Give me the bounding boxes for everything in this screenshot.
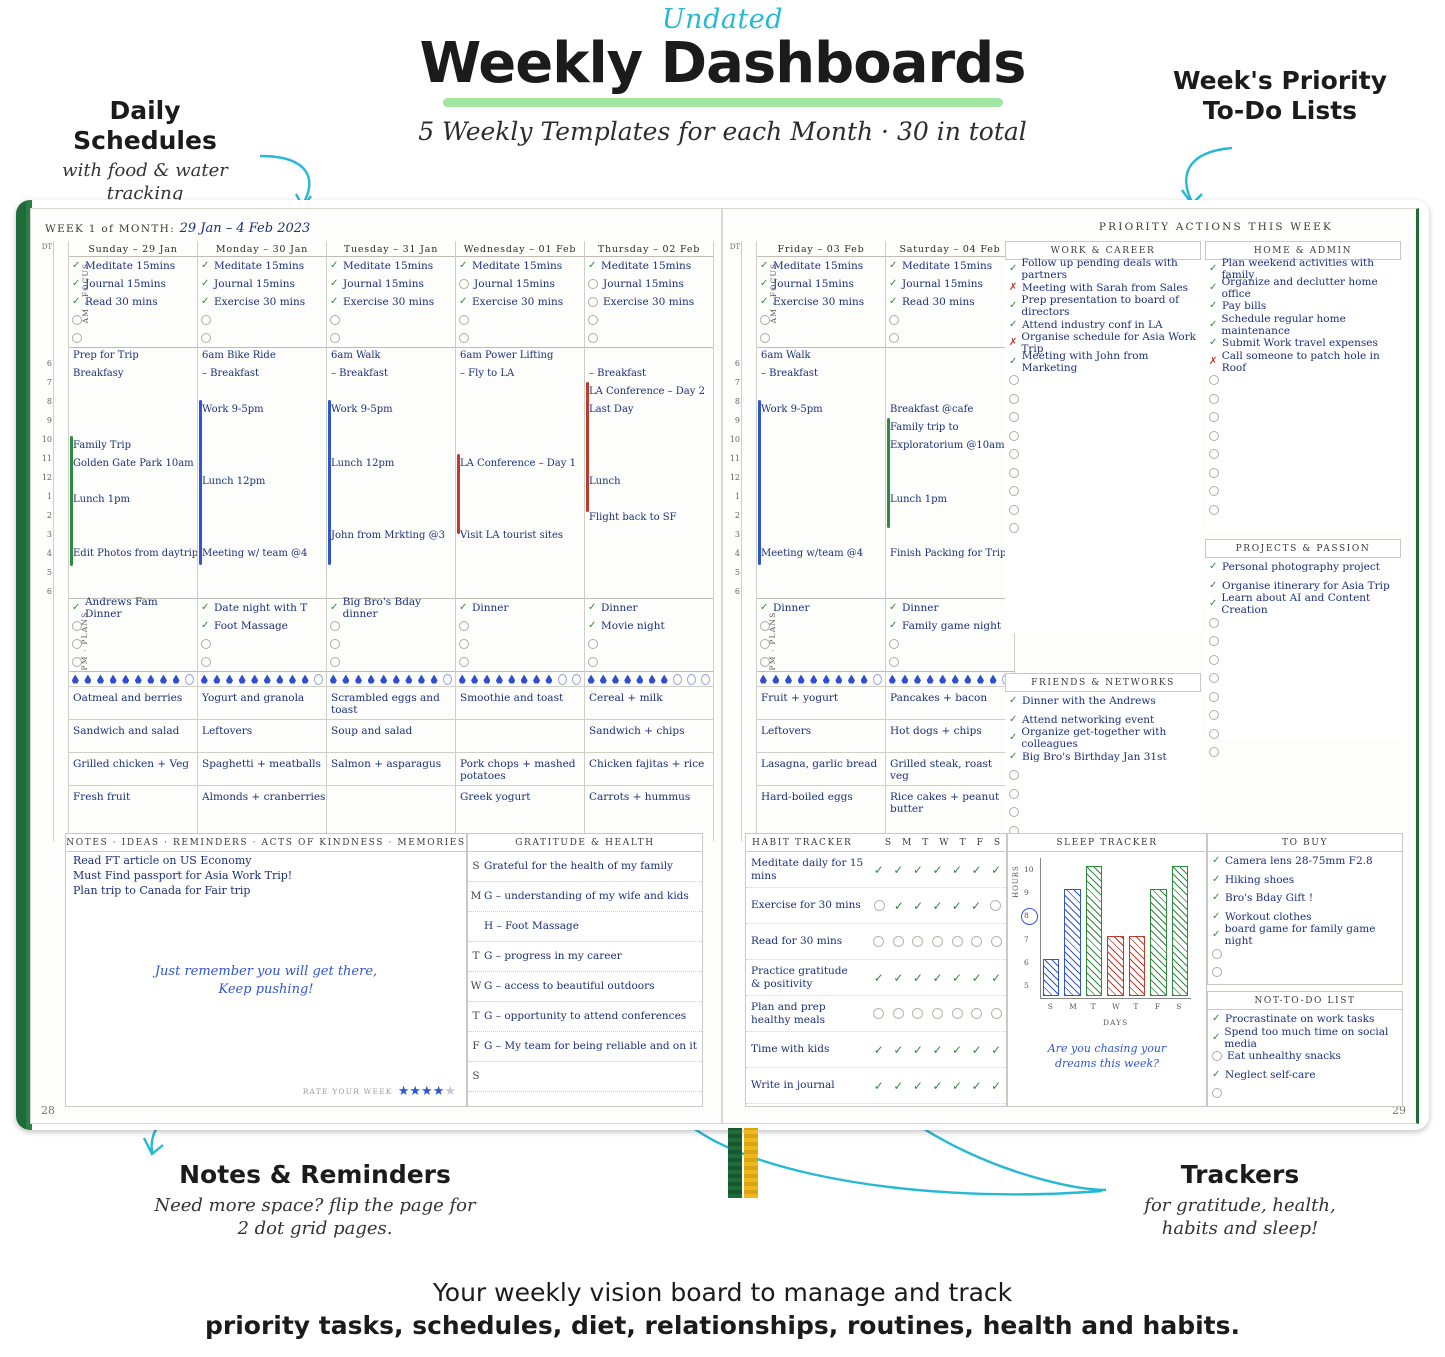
check-icon[interactable]: ✓: [874, 971, 884, 985]
empty-circle-icon[interactable]: [459, 333, 469, 343]
pm-task[interactable]: [757, 635, 885, 653]
meal-entry[interactable]: Pork chops + mashed potatoes: [456, 752, 584, 785]
water-drop-icon[interactable]: [624, 675, 631, 684]
water-drop-icon[interactable]: [160, 675, 167, 684]
am-task[interactable]: ✓Meditate 15mins: [585, 257, 713, 275]
check-icon[interactable]: ✓: [1209, 264, 1218, 274]
empty-circle-icon[interactable]: [1212, 949, 1222, 959]
water-drop-icon[interactable]: [185, 674, 194, 685]
pm-task[interactable]: [327, 635, 455, 653]
am-task[interactable]: [69, 311, 197, 329]
water-drop-icon[interactable]: [251, 675, 258, 684]
gratitude-row[interactable]: SGrateful for the health of my family: [468, 852, 702, 882]
pm-task[interactable]: ✓Andrews Fam Dinner: [69, 599, 197, 617]
water-drop-icon[interactable]: [380, 675, 387, 684]
priority-item-empty[interactable]: [1005, 482, 1201, 501]
gratitude-row[interactable]: TG – opportunity to attend conferences: [468, 1002, 702, 1032]
am-task[interactable]: ✓Journal 15mins: [69, 275, 197, 293]
check-icon[interactable]: ✓: [330, 603, 339, 613]
empty-circle-icon[interactable]: [893, 1008, 904, 1019]
priority-item-empty[interactable]: [1005, 371, 1201, 390]
habit-marks[interactable]: ✓✓✓✓✓✓✓: [869, 1079, 1006, 1093]
water-drop-icon[interactable]: [636, 675, 643, 684]
am-task[interactable]: ✓Journal 15mins: [198, 275, 326, 293]
meal-entry[interactable]: Sandwich and salad: [69, 719, 197, 752]
water-tracker[interactable]: [886, 671, 1014, 686]
check-icon[interactable]: ✓: [330, 297, 339, 307]
priority-item[interactable]: ✓Bro's Bday Gift !: [1208, 889, 1402, 908]
gratitude-row[interactable]: H – Foot Massage: [468, 912, 702, 942]
priority-item-empty[interactable]: [1205, 427, 1401, 446]
empty-circle-icon[interactable]: [459, 315, 469, 325]
priority-item-empty[interactable]: [1205, 464, 1401, 483]
empty-circle-icon[interactable]: [1212, 967, 1222, 977]
empty-circle-icon[interactable]: [72, 621, 82, 631]
check-icon[interactable]: ✓: [459, 603, 468, 613]
water-drop-icon[interactable]: [521, 675, 528, 684]
water-drop-icon[interactable]: [393, 675, 400, 684]
meal-entry[interactable]: Almonds + cranberries: [198, 785, 326, 818]
water-drop-icon[interactable]: [889, 675, 896, 684]
cross-icon[interactable]: ✗: [1009, 283, 1018, 293]
am-task[interactable]: ✓Journal 15mins: [327, 275, 455, 293]
water-drop-icon[interactable]: [701, 674, 710, 685]
priority-item-empty[interactable]: [1205, 501, 1401, 520]
pm-task[interactable]: [585, 635, 713, 653]
empty-circle-icon[interactable]: [588, 333, 598, 343]
pm-task[interactable]: [327, 653, 455, 671]
empty-circle-icon[interactable]: [1009, 770, 1019, 780]
pm-task[interactable]: [456, 617, 584, 635]
am-task[interactable]: [456, 311, 584, 329]
meal-entry[interactable]: Smoothie and toast: [456, 686, 584, 719]
empty-circle-icon[interactable]: [1209, 692, 1219, 702]
meal-entry[interactable]: Hot dogs + chips: [886, 719, 1014, 752]
rate-your-week[interactable]: RATE YOUR WEEK ★★★★★: [303, 1082, 456, 1100]
empty-circle-icon[interactable]: [330, 333, 340, 343]
check-icon[interactable]: ✓: [459, 261, 468, 271]
empty-circle-icon[interactable]: [760, 639, 770, 649]
empty-circle-icon[interactable]: [991, 936, 1002, 947]
am-task[interactable]: ✓Meditate 15mins: [69, 257, 197, 275]
cross-icon[interactable]: ✗: [1209, 357, 1218, 367]
habit-row[interactable]: Read for 30 mins: [746, 924, 1006, 960]
priority-item[interactable]: ✓Spend too much time on social media: [1208, 1029, 1402, 1048]
check-icon[interactable]: ✓: [330, 279, 339, 289]
check-icon[interactable]: ✓: [1009, 733, 1017, 743]
check-icon[interactable]: ✓: [1212, 893, 1221, 903]
gratitude-row[interactable]: TG – progress in my career: [468, 942, 702, 972]
empty-circle-icon[interactable]: [893, 936, 904, 947]
empty-circle-icon[interactable]: [1009, 468, 1019, 478]
gratitude-row[interactable]: FG – My team for being reliable and on i…: [468, 1032, 702, 1062]
gratitude-row[interactable]: WG – access to beautiful outdoors: [468, 972, 702, 1002]
priority-item-empty[interactable]: [1205, 669, 1401, 688]
priority-item[interactable]: ✓Camera lens 28-75mm F2.8: [1208, 852, 1402, 871]
priority-item-empty[interactable]: [1005, 766, 1201, 785]
check-icon[interactable]: ✓: [893, 863, 903, 877]
empty-circle-icon[interactable]: [588, 315, 598, 325]
water-drop-icon[interactable]: [612, 675, 619, 684]
am-task[interactable]: ✓Meditate 15mins: [456, 257, 584, 275]
water-tracker[interactable]: [327, 671, 455, 686]
water-drop-icon[interactable]: [330, 675, 337, 684]
water-drop-icon[interactable]: [110, 675, 117, 684]
pm-task[interactable]: [198, 653, 326, 671]
empty-circle-icon[interactable]: [1009, 394, 1019, 404]
water-drop-icon[interactable]: [239, 675, 246, 684]
check-icon[interactable]: ✓: [932, 863, 942, 877]
check-icon[interactable]: ✓: [913, 1079, 923, 1093]
water-drop-icon[interactable]: [471, 675, 478, 684]
empty-circle-icon[interactable]: [1009, 789, 1019, 799]
check-icon[interactable]: ✓: [760, 603, 769, 613]
check-icon[interactable]: ✓: [932, 1043, 942, 1057]
am-task[interactable]: [198, 329, 326, 347]
habit-row[interactable]: Exercise for 30 mins✓✓✓✓✓: [746, 888, 1006, 924]
water-drop-icon[interactable]: [405, 675, 412, 684]
empty-circle-icon[interactable]: [72, 657, 82, 667]
check-icon[interactable]: ✓: [894, 899, 904, 913]
priority-item[interactable]: Eat unhealthy snacks: [1208, 1047, 1402, 1066]
empty-circle-icon[interactable]: [1009, 449, 1019, 459]
habit-marks[interactable]: ✓✓✓✓✓: [869, 899, 1006, 913]
am-task[interactable]: ✓Meditate 15mins: [886, 257, 1014, 275]
water-drop-icon[interactable]: [508, 675, 515, 684]
meal-entry[interactable]: Greek yogurt: [456, 785, 584, 818]
pm-task[interactable]: [757, 653, 885, 671]
pm-task[interactable]: ✓Date night with T: [198, 599, 326, 617]
empty-circle-icon[interactable]: [330, 315, 340, 325]
water-drop-icon[interactable]: [276, 675, 283, 684]
check-icon[interactable]: ✓: [1212, 1070, 1221, 1080]
empty-circle-icon[interactable]: [588, 639, 598, 649]
meal-entry[interactable]: Leftovers: [757, 719, 885, 752]
habit-marks[interactable]: [869, 1008, 1006, 1019]
empty-circle-icon[interactable]: [889, 657, 899, 667]
check-icon[interactable]: ✓: [874, 1043, 884, 1057]
water-drop-icon[interactable]: [600, 675, 607, 684]
empty-circle-icon[interactable]: [1209, 618, 1219, 628]
priority-item-empty[interactable]: [1208, 963, 1402, 982]
empty-circle-icon[interactable]: [932, 936, 943, 947]
check-icon[interactable]: ✓: [991, 1043, 1001, 1057]
habit-row[interactable]: Plan and prep healthy meals: [746, 996, 1006, 1032]
check-icon[interactable]: ✓: [889, 621, 898, 631]
check-icon[interactable]: ✓: [889, 261, 898, 271]
empty-circle-icon[interactable]: [952, 936, 963, 947]
priority-item-empty[interactable]: [1205, 743, 1401, 762]
habit-marks[interactable]: ✓✓✓✓✓✓✓: [869, 863, 1006, 877]
am-task[interactable]: ✓Read 30 mins: [69, 293, 197, 311]
empty-circle-icon[interactable]: [1209, 655, 1219, 665]
pm-task[interactable]: [886, 635, 1014, 653]
check-icon[interactable]: ✓: [952, 1079, 962, 1093]
check-icon[interactable]: ✓: [874, 863, 884, 877]
am-task[interactable]: Exercise 30 mins: [585, 293, 713, 311]
water-drop-icon[interactable]: [687, 674, 696, 685]
am-task[interactable]: [69, 329, 197, 347]
water-drop-icon[interactable]: [122, 675, 129, 684]
check-icon[interactable]: ✓: [893, 1043, 903, 1057]
meal-entry[interactable]: Yogurt and granola: [198, 686, 326, 719]
check-icon[interactable]: ✓: [972, 863, 982, 877]
empty-circle-icon[interactable]: [1209, 710, 1219, 720]
check-icon[interactable]: ✓: [1209, 581, 1218, 591]
empty-circle-icon[interactable]: [912, 936, 923, 947]
check-icon[interactable]: ✓: [952, 863, 962, 877]
empty-circle-icon[interactable]: [873, 936, 884, 947]
meal-entry[interactable]: Fruit + yogurt: [757, 686, 885, 719]
water-drop-icon[interactable]: [760, 675, 767, 684]
empty-circle-icon[interactable]: [459, 657, 469, 667]
check-icon[interactable]: ✓: [1209, 599, 1217, 609]
empty-circle-icon[interactable]: [1009, 505, 1019, 515]
empty-circle-icon[interactable]: [1209, 375, 1219, 385]
pm-task[interactable]: [69, 653, 197, 671]
check-icon[interactable]: ✓: [932, 899, 942, 913]
water-drop-icon[interactable]: [201, 675, 208, 684]
priority-item-empty[interactable]: [1005, 464, 1201, 483]
am-task[interactable]: [456, 329, 584, 347]
priority-item[interactable]: ✓Follow up pending deals with partners: [1005, 260, 1201, 279]
priority-item-empty[interactable]: [1205, 632, 1401, 651]
empty-circle-icon[interactable]: [760, 657, 770, 667]
star-icon[interactable]: ★: [444, 1083, 456, 1098]
check-icon[interactable]: ✓: [972, 1079, 982, 1093]
meal-entry[interactable]: Leftovers: [198, 719, 326, 752]
empty-circle-icon[interactable]: [201, 657, 211, 667]
check-icon[interactable]: ✓: [932, 1079, 942, 1093]
empty-circle-icon[interactable]: [991, 1008, 1002, 1019]
note-line[interactable]: Plan trip to Canada for Fair trip: [66, 882, 466, 897]
empty-circle-icon[interactable]: [971, 936, 982, 947]
check-icon[interactable]: ✓: [72, 603, 81, 613]
water-drop-icon[interactable]: [173, 675, 180, 684]
check-icon[interactable]: ✓: [1209, 562, 1218, 572]
star-rating[interactable]: ★★★★★: [398, 1082, 456, 1100]
habit-row[interactable]: Write in journal✓✓✓✓✓✓✓: [746, 1068, 1006, 1104]
priority-item-empty[interactable]: [1005, 501, 1201, 520]
priority-item-empty[interactable]: [1208, 1084, 1402, 1103]
water-drop-icon[interactable]: [990, 675, 997, 684]
empty-circle-icon[interactable]: [1209, 412, 1219, 422]
empty-circle-icon[interactable]: [1209, 747, 1219, 757]
check-icon[interactable]: ✓: [760, 261, 769, 271]
water-tracker[interactable]: [585, 671, 713, 686]
empty-circle-icon[interactable]: [459, 279, 469, 289]
water-drop-icon[interactable]: [72, 675, 79, 684]
meal-entry[interactable]: Carrots + hummus: [585, 785, 713, 818]
habit-row[interactable]: Meditate daily for 15 mins✓✓✓✓✓✓✓: [746, 852, 1006, 888]
water-drop-icon[interactable]: [418, 675, 425, 684]
pm-task[interactable]: ✓Foot Massage: [198, 617, 326, 635]
pm-task[interactable]: [198, 635, 326, 653]
water-drop-icon[interactable]: [785, 675, 792, 684]
check-icon[interactable]: ✓: [459, 297, 468, 307]
empty-circle-icon[interactable]: [459, 621, 469, 631]
day-schedule[interactable]: 6am Bike Ride– BreakfastWork 9-5pmLunch …: [198, 347, 326, 598]
water-drop-icon[interactable]: [823, 675, 830, 684]
water-drop-icon[interactable]: [213, 675, 220, 684]
meal-entry[interactable]: Rice cakes + peanut butter: [886, 785, 1014, 818]
check-icon[interactable]: ✓: [952, 1043, 962, 1057]
check-icon[interactable]: ✓: [1009, 301, 1017, 311]
priority-item[interactable]: ✓Schedule regular home maintenance: [1205, 316, 1401, 335]
empty-circle-icon[interactable]: [1209, 505, 1219, 515]
priority-item[interactable]: ✓Personal photography project: [1205, 558, 1401, 577]
check-icon[interactable]: ✓: [991, 971, 1001, 985]
gratitude-row[interactable]: S: [468, 1062, 702, 1092]
check-icon[interactable]: ✓: [201, 279, 210, 289]
habit-marks[interactable]: ✓✓✓✓✓✓✓: [869, 971, 1006, 985]
check-icon[interactable]: ✓: [1212, 1014, 1221, 1024]
priority-item-empty[interactable]: [1005, 803, 1201, 822]
water-drop-icon[interactable]: [661, 675, 668, 684]
check-icon[interactable]: ✓: [1212, 856, 1221, 866]
empty-circle-icon[interactable]: [201, 639, 211, 649]
projects-panel[interactable]: PROJECTS & PASSION ✓Personal photography…: [1205, 539, 1401, 739]
water-drop-icon[interactable]: [459, 675, 466, 684]
water-drop-icon[interactable]: [545, 675, 552, 684]
check-icon[interactable]: ✓: [1009, 357, 1018, 367]
check-icon[interactable]: ✓: [72, 297, 81, 307]
water-drop-icon[interactable]: [588, 675, 595, 684]
pm-task[interactable]: ✓Dinner: [585, 599, 713, 617]
priority-item-empty[interactable]: [1005, 427, 1201, 446]
check-icon[interactable]: ✓: [760, 297, 769, 307]
check-icon[interactable]: ✓: [588, 621, 597, 631]
am-task[interactable]: ✓Journal 15mins: [886, 275, 1014, 293]
water-drop-icon[interactable]: [939, 675, 946, 684]
empty-circle-icon[interactable]: [971, 1008, 982, 1019]
pm-task[interactable]: [886, 653, 1014, 671]
water-drop-icon[interactable]: [649, 675, 656, 684]
am-task[interactable]: Journal 15mins: [456, 275, 584, 293]
pm-task[interactable]: [456, 635, 584, 653]
check-icon[interactable]: ✓: [1209, 301, 1218, 311]
star-icon[interactable]: ★: [421, 1083, 433, 1098]
check-icon[interactable]: ✓: [913, 1043, 923, 1057]
priority-item-empty[interactable]: [1205, 614, 1401, 633]
am-task[interactable]: ✓Meditate 15mins: [198, 257, 326, 275]
water-drop-icon[interactable]: [147, 675, 154, 684]
priority-item-empty[interactable]: [1005, 785, 1201, 804]
priority-item-empty[interactable]: [1205, 445, 1401, 464]
check-icon[interactable]: ✓: [913, 899, 923, 913]
am-task[interactable]: [327, 329, 455, 347]
priority-item-empty[interactable]: [1205, 706, 1401, 725]
day-schedule[interactable]: – BreakfastLA Conference – Day 2Last Day…: [585, 347, 713, 598]
check-icon[interactable]: ✓: [991, 1079, 1001, 1093]
water-drop-icon[interactable]: [927, 675, 934, 684]
check-icon[interactable]: ✓: [952, 899, 962, 913]
check-icon[interactable]: ✓: [893, 1079, 903, 1093]
water-drop-icon[interactable]: [772, 675, 779, 684]
pm-task[interactable]: ✓Big Bro's Bday dinner: [327, 599, 455, 617]
habit-row[interactable]: Practice gratitude & positivity✓✓✓✓✓✓✓: [746, 960, 1006, 996]
habit-marks[interactable]: ✓✓✓✓✓✓✓: [869, 1043, 1006, 1057]
meal-entry[interactable]: Salmon + asparagus: [327, 752, 455, 785]
meal-entry[interactable]: Hard-boiled eggs: [757, 785, 885, 818]
am-task[interactable]: ✓Exercise 30 mins: [198, 293, 326, 311]
check-icon[interactable]: ✓: [889, 297, 898, 307]
check-icon[interactable]: ✓: [1209, 338, 1218, 348]
check-icon[interactable]: ✓: [952, 971, 962, 985]
priority-item[interactable]: ✓board game for family game night: [1208, 926, 1402, 945]
water-drop-icon[interactable]: [964, 675, 971, 684]
empty-circle-icon[interactable]: [330, 657, 340, 667]
am-task[interactable]: ✓Meditate 15mins: [757, 257, 885, 275]
empty-circle-icon[interactable]: [873, 1008, 884, 1019]
empty-circle-icon[interactable]: [1209, 431, 1219, 441]
empty-circle-icon[interactable]: [1209, 636, 1219, 646]
day-schedule[interactable]: Prep for TripBreakfasyFamily TripGolden …: [69, 347, 197, 598]
meal-entry[interactable]: Spaghetti + meatballs: [198, 752, 326, 785]
check-icon[interactable]: ✓: [893, 971, 903, 985]
gratitude-row[interactable]: MG – understanding of my wife and kids: [468, 882, 702, 912]
water-drop-icon[interactable]: [84, 675, 91, 684]
am-task[interactable]: [757, 329, 885, 347]
empty-circle-icon[interactable]: [1009, 486, 1019, 496]
day-schedule[interactable]: 6am Walk– BreakfastWork 9-5pmMeeting w/t…: [757, 347, 885, 598]
empty-circle-icon[interactable]: [1212, 1088, 1222, 1098]
check-icon[interactable]: ✓: [889, 279, 898, 289]
check-icon[interactable]: ✓: [889, 603, 898, 613]
day-schedule[interactable]: 6am Walk– BreakfastWork 9-5pmLunch 12pmJ…: [327, 347, 455, 598]
to-buy-panel[interactable]: TO BUY ✓Camera lens 28-75mm F2.8✓Hiking …: [1207, 833, 1403, 985]
priority-item-empty[interactable]: [1005, 445, 1201, 464]
empty-circle-icon[interactable]: [1209, 468, 1219, 478]
empty-circle-icon[interactable]: [72, 333, 82, 343]
meal-entry[interactable]: Cereal + milk: [585, 686, 713, 719]
meal-entry[interactable]: Chicken fajitas + rice: [585, 752, 713, 785]
check-icon[interactable]: ✓: [1212, 912, 1221, 922]
am-task[interactable]: [198, 311, 326, 329]
check-icon[interactable]: ✓: [1009, 715, 1018, 725]
empty-circle-icon[interactable]: [889, 333, 899, 343]
priority-item-empty[interactable]: [1208, 945, 1402, 964]
check-icon[interactable]: ✓: [72, 261, 81, 271]
priority-item-empty[interactable]: [1205, 651, 1401, 670]
water-drop-icon[interactable]: [135, 675, 142, 684]
water-drop-icon[interactable]: [342, 675, 349, 684]
meal-entry[interactable]: Soup and salad: [327, 719, 455, 752]
empty-circle-icon[interactable]: [588, 279, 598, 289]
priority-item[interactable]: ✓Big Bro's Birthday Jan 31st: [1005, 748, 1201, 767]
check-icon[interactable]: ✓: [201, 261, 210, 271]
am-task[interactable]: [757, 311, 885, 329]
empty-circle-icon[interactable]: [1209, 673, 1219, 683]
meal-entry[interactable]: Pancakes + bacon: [886, 686, 1014, 719]
priority-item[interactable]: ✓Learn about AI and Content Creation: [1205, 595, 1401, 614]
empty-circle-icon[interactable]: [990, 900, 1001, 911]
priority-item[interactable]: ✓Prep presentation to board of directors: [1005, 297, 1201, 316]
empty-circle-icon[interactable]: [72, 315, 82, 325]
meal-entry[interactable]: Grilled steak, roast veg: [886, 752, 1014, 785]
water-drop-icon[interactable]: [314, 674, 323, 685]
priority-item[interactable]: ✓Meeting with John from Marketing: [1005, 353, 1201, 372]
check-icon[interactable]: ✓: [1209, 320, 1217, 330]
meal-entry[interactable]: [327, 785, 455, 818]
habit-marks[interactable]: [869, 936, 1006, 947]
am-task[interactable]: ✓Meditate 15mins: [327, 257, 455, 275]
empty-circle-icon[interactable]: [1009, 431, 1019, 441]
am-task[interactable]: Journal 15mins: [585, 275, 713, 293]
priority-item-empty[interactable]: [1205, 482, 1401, 501]
home-admin-panel[interactable]: HOME & ADMIN ✓Plan weekend activities wi…: [1205, 241, 1401, 531]
empty-circle-icon[interactable]: [912, 1008, 923, 1019]
